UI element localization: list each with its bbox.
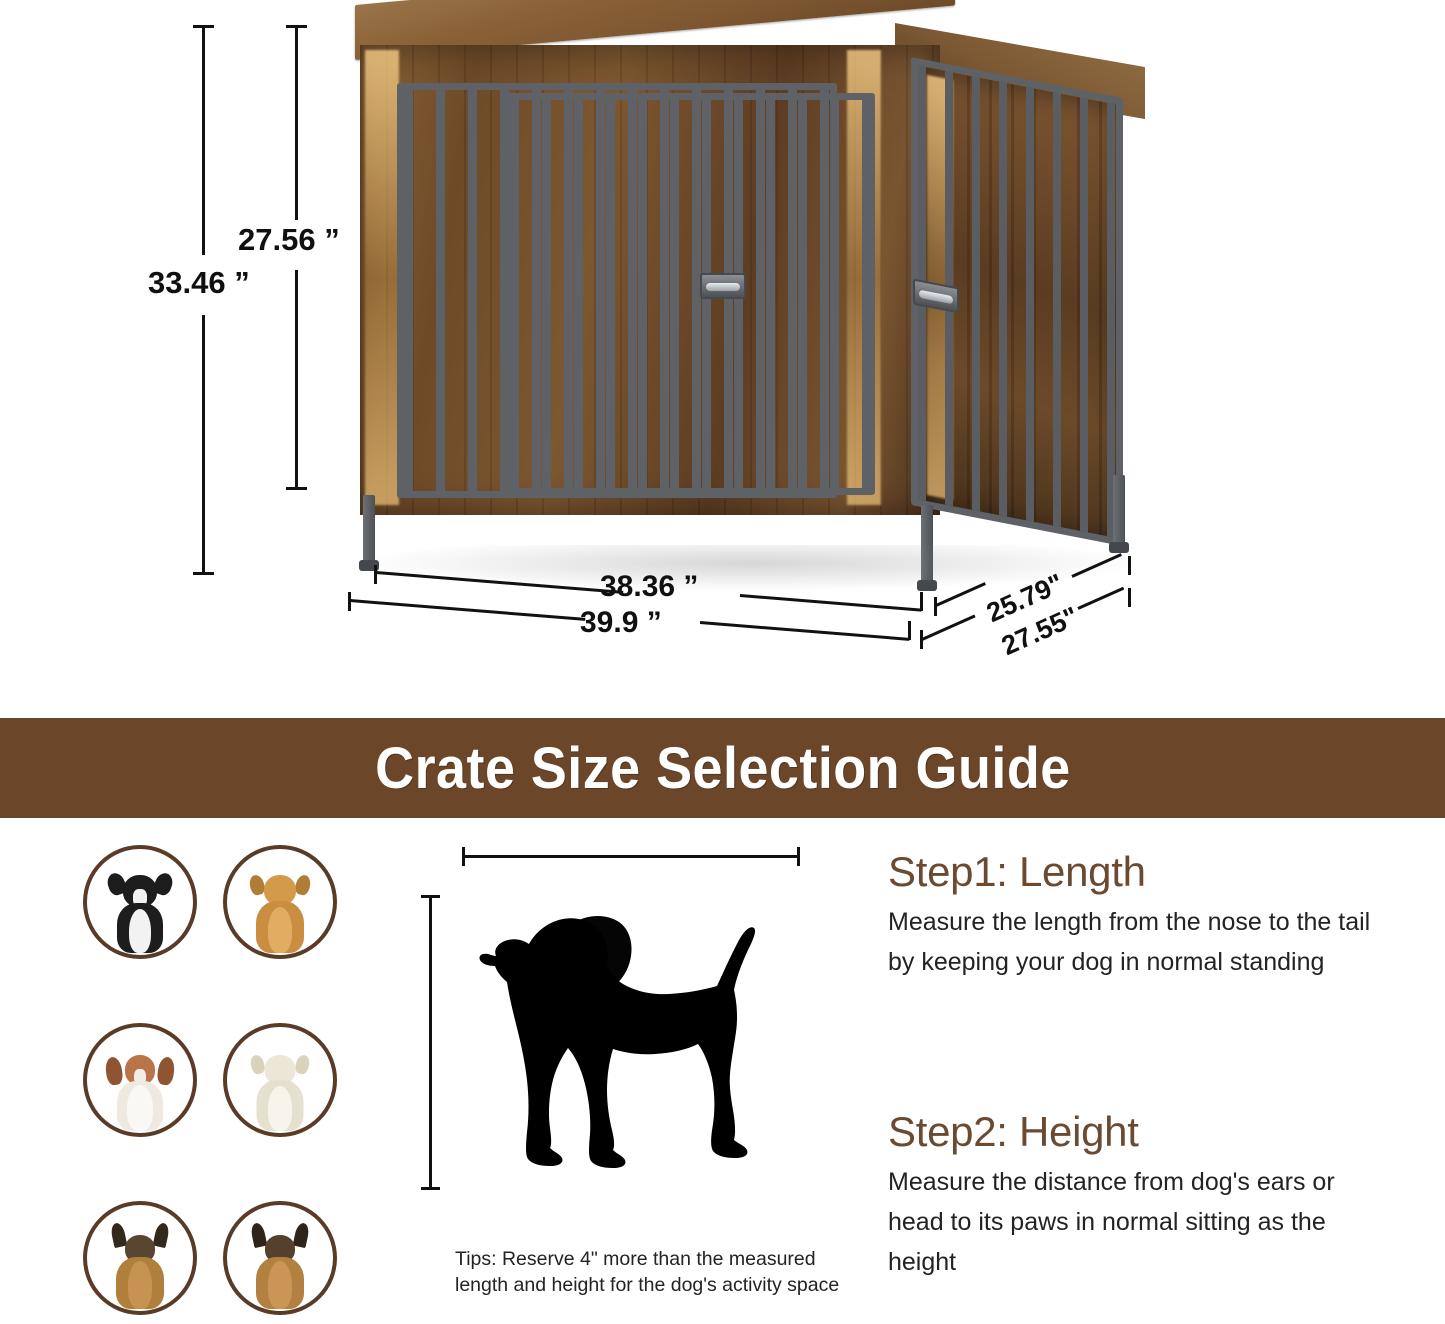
step-1-body: Measure the length from the nose to the … (888, 902, 1393, 982)
outer-height-label: 33.46 ” (148, 265, 250, 301)
german-shepherd-illustration-2 (242, 1221, 318, 1311)
labrador-illustration (242, 1043, 318, 1133)
beagle-illustration (102, 1043, 178, 1133)
height-measure-line (429, 895, 432, 1190)
outer-width-label: 39.9 ” (580, 606, 662, 640)
step-2-body: Measure the distance from dog's ears or … (888, 1162, 1393, 1282)
dog-crate-product-image (335, 5, 1140, 620)
step-2-block: Step2: Height Measure the distance from … (888, 1108, 1393, 1282)
wood-glow-left (365, 50, 399, 505)
step-1-title: Step1: Length (888, 848, 1393, 896)
front-door-inner-bars (510, 100, 868, 488)
breed-circle-golden-retriever (223, 845, 337, 959)
inner-width-label: 38.36 ” (600, 570, 698, 604)
banner-title: Crate Size Selection Guide (375, 735, 1071, 802)
breed-circle-beagle (83, 1023, 197, 1137)
breed-circle-grid (75, 845, 375, 1315)
front-door-latch[interactable] (700, 273, 746, 299)
crate-leg-back-right (1113, 475, 1125, 547)
inner-height-label: 27.56 ” (238, 222, 340, 258)
golden-retriever-illustration (242, 865, 318, 955)
breed-circle-labrador (223, 1023, 337, 1137)
step-2-title: Step2: Height (888, 1108, 1393, 1156)
german-shepherd-illustration-1 (102, 1221, 178, 1311)
dog-side-silhouette-icon (455, 878, 815, 1198)
breed-circle-border-collie (83, 845, 197, 959)
section-banner: Crate Size Selection Guide (0, 718, 1445, 818)
tips-text: Tips: Reserve 4" more than the measured … (455, 1246, 855, 1298)
breed-circle-german-shepherd-1 (83, 1201, 197, 1315)
crate-size-selection-guide: Tips: Reserve 4" more than the measured … (0, 818, 1445, 1324)
dog-measure-diagram (410, 838, 840, 1238)
length-measure-line (462, 855, 800, 858)
breed-circle-german-shepherd-2 (223, 1201, 337, 1315)
crate-front-door-inner[interactable] (503, 93, 875, 495)
step-1-block: Step1: Length Measure the length from th… (888, 848, 1393, 982)
border-collie-illustration (102, 865, 178, 955)
product-dimension-diagram: 33.46 ” 27.56 ” (0, 0, 1445, 718)
